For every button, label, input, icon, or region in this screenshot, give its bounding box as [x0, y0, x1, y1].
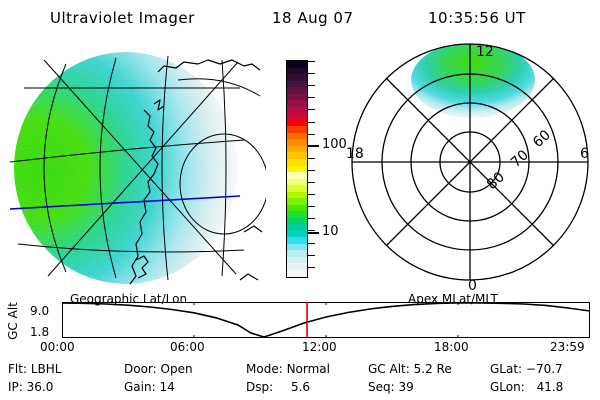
colorbar-minor-tick: [308, 97, 315, 98]
colorbar-minor-tick: [308, 218, 315, 219]
status-door-label: Door:: [124, 362, 157, 376]
mlt-label-6: 6: [580, 146, 589, 162]
colorbar-minor-tick: [308, 230, 315, 231]
status-seq-label: Seq:: [368, 380, 395, 394]
instrument-title: Ultraviolet Imager: [50, 9, 195, 27]
colorbar-minor-tick: [308, 206, 315, 207]
colorbar-minor-tick: [308, 255, 315, 256]
status-filter: Flt: LBHL: [8, 362, 61, 376]
strip-ytick-bottom: 1.8: [30, 325, 49, 339]
status-mode-value: Normal: [287, 362, 330, 376]
status-dsp: Dsp: 5.6: [246, 380, 310, 394]
colorbar-minor-tick: [308, 61, 315, 62]
mlt-label-0: 0: [468, 278, 477, 292]
colorbar-label-10: 10: [322, 225, 339, 238]
status-glon-value: 41.8: [537, 380, 564, 394]
colorbar-minor-tick: [308, 194, 315, 195]
colorbar-minor-tick: [308, 170, 315, 171]
status-dsp-label: Dsp:: [246, 380, 273, 394]
status-filter-value: LBHL: [31, 362, 62, 376]
mlat-label-80: 80: [484, 169, 508, 193]
status-mode-label: Mode:: [246, 362, 283, 376]
colorbar-minor-tick: [308, 182, 315, 183]
strip-xtick-3: 18:00: [434, 340, 469, 354]
status-seq-value: 39: [399, 380, 414, 394]
mlt-spokes: [352, 44, 588, 280]
colorbar-minor-tick: [308, 267, 315, 268]
colorbar-minor-tick: [308, 109, 315, 110]
status-gcalt-label: GC Alt:: [368, 362, 410, 376]
observation-time: 10:35:56 UT: [428, 9, 526, 27]
strip-ylabel: GC Alt: [6, 290, 20, 352]
colorbar-minor-tick: [308, 73, 315, 74]
colorbar-gradient: [286, 60, 308, 278]
colorbar-minor-tick: [308, 146, 315, 147]
mlt-label-12: 12: [476, 44, 494, 60]
strip-xtick-0: 00:00: [40, 340, 75, 354]
status-mode: Mode: Normal: [246, 362, 330, 376]
status-readout: Flt: LBHL Door: Open Mode: Normal GC Alt…: [0, 360, 600, 400]
colorbar-minor-tick: [308, 158, 315, 159]
colorbar-minor-tick: [308, 85, 315, 86]
altitude-trace-plot: [62, 302, 590, 338]
mlt-label-18: 18: [346, 146, 364, 162]
status-ip-value: 36.0: [27, 380, 54, 394]
colorbar-minor-tick: [308, 134, 315, 135]
polar-plot: 12 18 6 0 60 70 80: [340, 40, 598, 292]
status-door-value: Open: [161, 362, 193, 376]
status-gain-value: 14: [159, 380, 174, 394]
strip-ytick-top: 9.0: [30, 304, 49, 318]
orbit-altitude-strip-chart: Geographic Lat/Lon Apex MLat/MLT GC Alt …: [0, 292, 600, 358]
status-seq: Seq: 39: [368, 380, 414, 394]
status-glon: GLon: 41.8: [490, 380, 563, 394]
colorbar-tick-10: [308, 232, 319, 234]
mlat-label-60: 60: [530, 127, 554, 151]
status-filter-label: Flt:: [8, 362, 27, 376]
status-gcalt: GC Alt: 5.2 Re: [368, 362, 452, 376]
status-gain-label: Gain:: [124, 380, 156, 394]
header-bar: Ultraviolet Imager 18 Aug 07 10:35:56 UT: [0, 6, 600, 32]
strip-xtick-4: 23:59: [550, 340, 585, 354]
apex-polar-panel: 12 18 6 0 60 70 80: [340, 40, 598, 292]
colorbar-minor-tick: [308, 122, 315, 123]
status-door: Door: Open: [124, 362, 193, 376]
observation-date: 18 Aug 07: [272, 9, 354, 27]
strip-xtick-2: 12:00: [302, 340, 337, 354]
strip-xtick-1: 06:00: [170, 340, 205, 354]
status-glat-value: −70.7: [526, 362, 563, 376]
status-glat: GLat: −70.7: [490, 362, 563, 376]
status-ip: IP: 36.0: [8, 380, 53, 394]
status-glat-label: GLat:: [490, 362, 522, 376]
status-dsp-value: 5.6: [291, 380, 310, 394]
auroral-emission: [14, 52, 238, 284]
geographic-plot: [8, 44, 266, 292]
status-ip-label: IP:: [8, 380, 23, 394]
status-gcalt-value: 5.2 Re: [414, 362, 452, 376]
status-gain: Gain: 14: [124, 380, 175, 394]
geographic-image-panel: [8, 44, 266, 292]
colorbar-minor-tick: [308, 243, 315, 244]
status-glon-label: GLon:: [490, 380, 525, 394]
altitude-trace: [62, 303, 590, 337]
